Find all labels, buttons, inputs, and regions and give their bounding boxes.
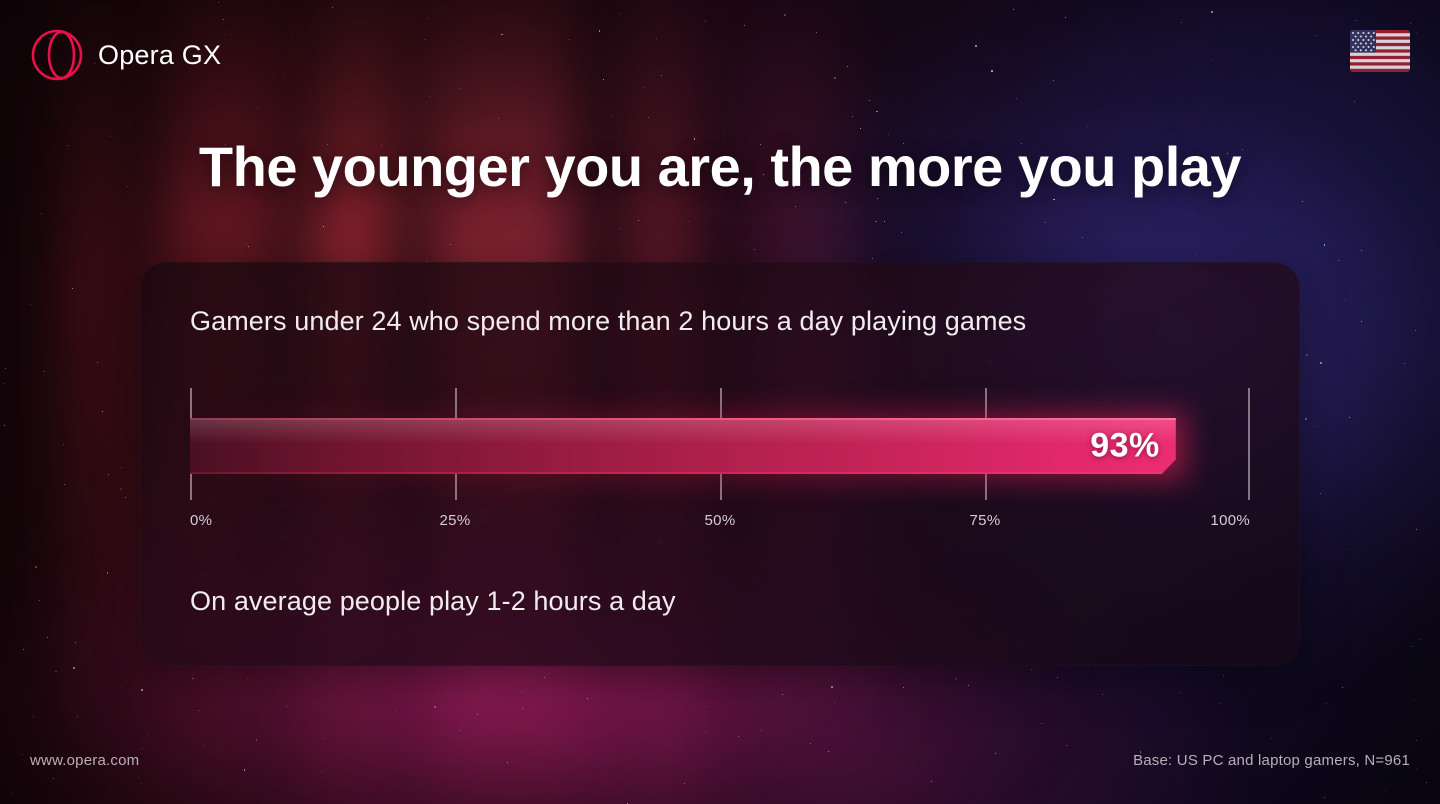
bar-highlight-top xyxy=(190,418,1176,420)
bar-chart: 93% 0%25%50%75%100% xyxy=(190,388,1250,538)
us-flag-icon xyxy=(1350,30,1410,72)
card-footnote: On average people play 1-2 hours a day xyxy=(190,586,676,617)
brand-lockup: Opera GX xyxy=(30,28,221,82)
bar-highlight-bottom xyxy=(190,472,1176,474)
page-title: The younger you are, the more you play xyxy=(0,134,1440,199)
axis-tick-label: 25% xyxy=(440,512,471,529)
opera-gx-logo-icon xyxy=(30,28,84,82)
axis-tick-label: 0% xyxy=(190,512,212,529)
chart-axis-ticks: 0%25%50%75%100% xyxy=(190,512,1250,536)
infographic-slide: Opera GX xyxy=(0,0,1440,804)
bar-track: 93% xyxy=(190,418,1250,474)
bar-gloss xyxy=(190,418,1176,444)
stat-card: Gamers under 24 who spend more than 2 ho… xyxy=(140,262,1300,666)
axis-tick-label: 75% xyxy=(970,512,1001,529)
header: Opera GX xyxy=(0,0,1440,112)
footer-base-note: Base: US PC and laptop gamers, N=961 xyxy=(1133,752,1410,769)
brand-name: Opera GX xyxy=(98,40,221,71)
axis-tick-label: 50% xyxy=(705,512,736,529)
footer-website[interactable]: www.opera.com xyxy=(30,752,139,769)
bar-series-0: 93% xyxy=(190,418,1176,474)
card-title: Gamers under 24 who spend more than 2 ho… xyxy=(190,306,1026,337)
axis-tick-label: 100% xyxy=(1210,512,1250,529)
bar-value-label: 93% xyxy=(1090,427,1160,466)
